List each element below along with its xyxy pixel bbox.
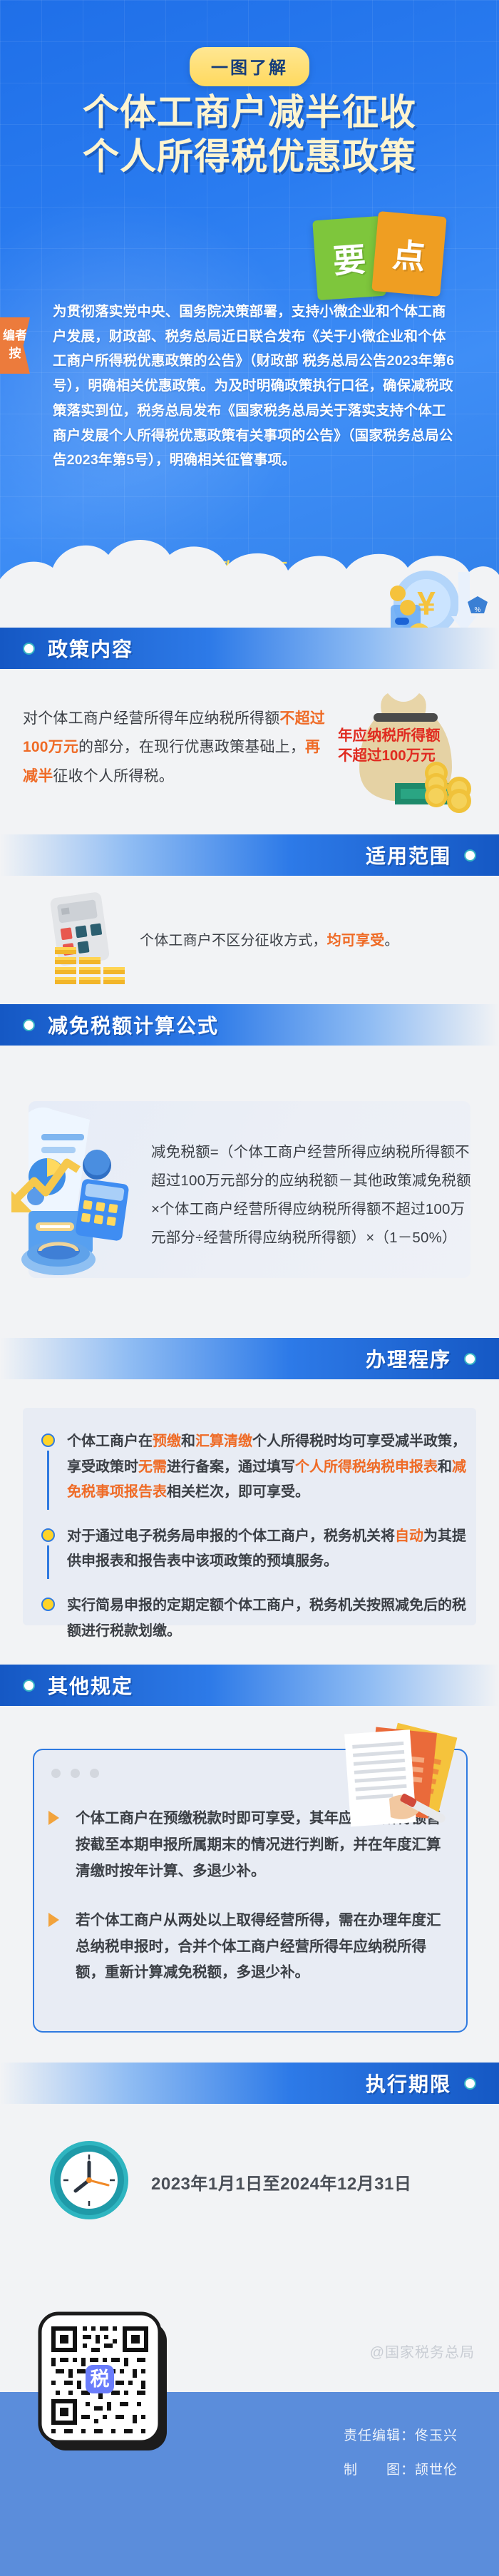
- money-bag-label-line-2: 不超过100万元: [338, 746, 473, 766]
- keypoint-cards: 要 点: [315, 214, 451, 298]
- section-body-policy-content: 对个体工商户经营所得年应纳税所得额不超过100万元的部分，在现行优惠政策基础上，…: [0, 669, 499, 834]
- period-value: 2023年1月1日至2024年12月31日: [151, 2169, 411, 2194]
- page-title: 个体工商户减半征收 个人所得税优惠政策: [0, 91, 499, 179]
- rule-item-text: 若个体工商户从两处以上取得经营所得，需在办理年度汇总纳税申报时，合并个体工商户经…: [76, 1908, 445, 1987]
- bullet-dot-icon: [464, 849, 476, 862]
- clock-icon: [50, 2141, 128, 2219]
- section-title-policy-content: 政策内容: [48, 634, 133, 663]
- proc-1-part-2: 和: [181, 1433, 195, 1449]
- proc-2-highlight-1: 自动: [395, 1528, 423, 1544]
- report-chart-calculator-illustration: [7, 1097, 139, 1279]
- circle-bullet-icon: [41, 1598, 55, 1611]
- scope-text-part-1: 个体工商户不区分征收方式，: [140, 933, 327, 949]
- credit-designer: 制 图：颉世伦: [344, 2453, 458, 2488]
- procedure-list: 个体工商户在预缴和汇算清缴个人所得税时均可享受减半政策，享受政策时无需进行备案，…: [41, 1429, 469, 1662]
- card-dots-decoration: [51, 1769, 99, 1778]
- bullet-dot-icon: [23, 1019, 35, 1031]
- calculator-coins-illustration: [39, 891, 128, 988]
- section-header-period: 执行期限: [0, 2063, 499, 2104]
- section-header-other-rules: 其他规定: [0, 1665, 499, 1706]
- section-title-procedure: 办理程序: [366, 1344, 451, 1373]
- section-title-other-rules: 其他规定: [48, 1671, 133, 1700]
- section-body-scope: 个体工商户不区分征收方式，均可享受。: [0, 876, 499, 1004]
- proc-1-part-1: 个体工商户在: [67, 1433, 153, 1449]
- section-body-other-rules: 个体工商户在预缴税款时即可享受，其年应纳税所得额暂按截至本期申报所属期末的情况进…: [0, 1706, 499, 2063]
- dot-3: [90, 1769, 99, 1778]
- section-header-policy-content: 政策内容: [0, 628, 499, 669]
- section-title-scope: 适用范围: [366, 841, 451, 869]
- section-body-period: 2023年1月1日至2024年12月31日: [0, 2104, 499, 2282]
- list-item: 实行简易申报的定期定额个体工商户，税务机关按照减免后的税额进行税款划缴。: [41, 1593, 469, 1644]
- policy-text-part-3: 征收个人所得税。: [53, 768, 174, 784]
- qr-code[interactable]: 税: [34, 2306, 177, 2460]
- bullet-dot-icon: [23, 1680, 35, 1692]
- page-title-line-1: 个体工商户减半征收: [0, 91, 499, 135]
- yen-coins-illustration: ¥ %: [342, 528, 492, 628]
- dot-1: [51, 1769, 61, 1778]
- proc-2-part-1: 对于通过电子税务局申报的个体工商户，税务机关将: [67, 1528, 395, 1544]
- procedure-item-text: 个体工商户在预缴和汇算清缴个人所得税时均可享受减半政策，享受政策时无需进行备案，…: [67, 1429, 469, 1506]
- section-title-period: 执行期限: [366, 2069, 451, 2097]
- triangle-bullet-icon: [48, 1811, 59, 1825]
- money-bag-label-line-1: 年应纳税所得额: [338, 726, 473, 746]
- section-header-scope: 适用范围: [0, 834, 499, 876]
- editor-note-body: 为贯彻落实党中央、国务院决策部署，支持小微企业和个体工商户发展，财政部、税务总局…: [53, 300, 456, 473]
- proc-1-highlight-1: 预缴: [153, 1433, 181, 1449]
- procedure-item-text: 对于通过电子税务局申报的个体工商户，税务机关将自动为其提供申报表和报告表中该项政…: [67, 1524, 469, 1575]
- section-title-formula: 减免税额计算公式: [48, 1011, 219, 1039]
- proc-1-highlight-4: 个人所得税纳税申报表: [295, 1459, 438, 1475]
- section-header-formula: 减免税额计算公式: [0, 1004, 499, 1046]
- scope-text-part-2: 。: [384, 933, 398, 949]
- hero-banner: 一图了解 个体工商户减半征收 个人所得税优惠政策 要 点 编者按 为贯彻落实党中…: [0, 0, 499, 628]
- section-header-procedure: 办理程序: [0, 1338, 499, 1379]
- footer-blue-bar: 税 责任编辑：佟玉兴 制 图：颉世伦: [0, 2392, 499, 2576]
- bullet-dot-icon: [464, 2077, 476, 2090]
- section-body-procedure: 个体工商户在预缴和汇算清缴个人所得税时均可享受减半政策，享受政策时无需进行备案，…: [0, 1379, 499, 1665]
- proc-1-part-5: 和: [438, 1459, 452, 1475]
- section-body-formula: 减免税额=（个体工商户经营所得应纳税所得额不超过100万元部分的应纳税额－其他政…: [0, 1046, 499, 1338]
- money-bag-label: 年应纳税所得额 不超过100万元: [338, 726, 473, 765]
- keypoint-card-orange: 点: [371, 211, 446, 297]
- svg-text:%: %: [475, 606, 481, 614]
- list-item: 对于通过电子税务局申报的个体工商户，税务机关将自动为其提供申报表和报告表中该项政…: [41, 1524, 469, 1575]
- document-signing-illustration: [334, 1712, 462, 1854]
- policy-text-part-2: 的部分，在现行优惠政策基础上，: [78, 739, 305, 755]
- procedure-item-text: 实行简易申报的定期定额个体工商户，税务机关按照减免后的税额进行税款划缴。: [67, 1593, 469, 1644]
- policy-text-part-1: 对个体工商户经营所得年应纳税所得额: [23, 710, 279, 727]
- page-title-line-2: 个人所得税优惠政策: [0, 135, 499, 179]
- circle-bullet-icon: [41, 1528, 55, 1542]
- scope-highlight: 均可享受: [327, 933, 385, 949]
- timeline-rail: [47, 1451, 49, 1510]
- circle-bullet-icon: [41, 1433, 55, 1447]
- list-item: 个体工商户在预缴和汇算清缴个人所得税时均可享受减半政策，享受政策时无需进行备案，…: [41, 1429, 469, 1506]
- proc-1-highlight-2: 汇算清缴: [195, 1433, 252, 1449]
- dot-2: [71, 1769, 80, 1778]
- proc-1-part-6: 相关栏次，即可享受。: [167, 1484, 309, 1500]
- formula-text: 减免税额=（个体工商户经营所得应纳税所得额不超过100万元部分的应纳税额－其他政…: [151, 1138, 473, 1252]
- credit-editor: 责任编辑：佟玉兴: [344, 2419, 458, 2453]
- credits: 责任编辑：佟玉兴 制 图：颉世伦: [344, 2419, 458, 2487]
- bullet-dot-icon: [464, 1353, 476, 1365]
- qr-logo-char: 税: [91, 2368, 110, 2390]
- watermark-footer: @国家税务总局: [370, 2341, 475, 2361]
- scope-paragraph: 个体工商户不区分征收方式，均可享受。: [140, 927, 482, 954]
- proc-1-highlight-3: 无需: [138, 1459, 167, 1475]
- policy-content-paragraph: 对个体工商户经营所得年应纳税所得额不超过100万元的部分，在现行优惠政策基础上，…: [23, 705, 329, 791]
- triangle-bullet-icon: [48, 1913, 59, 1927]
- bullet-dot-icon: [23, 643, 35, 655]
- timeline-rail: [47, 1545, 49, 1579]
- hero-badge: 一图了解: [190, 47, 309, 86]
- list-item: 若个体工商户从两处以上取得经营所得，需在办理年度汇总纳税申报时，合并个体工商户经…: [48, 1908, 445, 1987]
- proc-1-part-4: 进行备案，通过填写: [167, 1459, 295, 1475]
